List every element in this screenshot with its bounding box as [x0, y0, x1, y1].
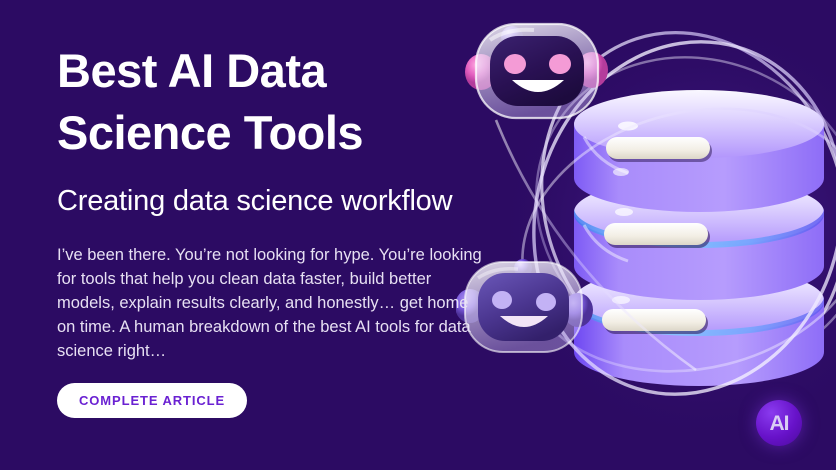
database-slot-2: [604, 223, 708, 245]
database-slot-3: [602, 309, 706, 331]
headline-line-2: Science Tools: [57, 106, 363, 159]
hero-banner: Best AI DataScience Tools Creating data …: [0, 0, 836, 470]
page-subtitle: Creating data science workflow: [57, 183, 537, 219]
database-slot-1: [606, 137, 710, 159]
ai-logo-icon: AI: [770, 413, 789, 434]
ai-logo-badge[interactable]: AI: [756, 400, 802, 446]
robot-eye-right-bottom: [536, 293, 556, 311]
hero-content: Best AI DataScience Tools Creating data …: [57, 0, 527, 470]
page-description: I’ve been there. You’re not looking for …: [57, 243, 489, 363]
page-title: Best AI DataScience Tools: [57, 40, 527, 164]
robot-eye-right-top: [549, 54, 571, 74]
complete-article-button[interactable]: COMPLETE ARTICLE: [57, 383, 247, 418]
headline-line-1: Best AI Data: [57, 44, 326, 97]
